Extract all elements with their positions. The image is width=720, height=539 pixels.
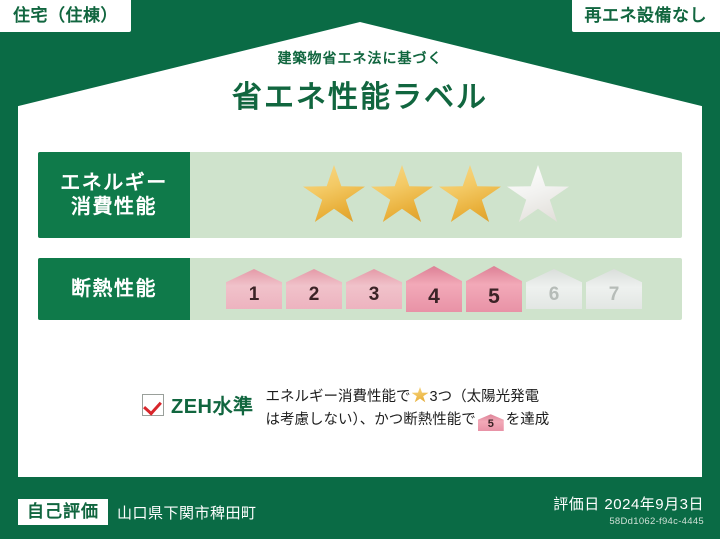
insulation-level-badge-2: 2 <box>286 269 342 309</box>
zeh-text-part2: は考慮しない）、かつ断熱性能で <box>266 412 476 428</box>
zeh-text-part1: エネルギー消費性能で <box>266 389 411 405</box>
insulation-performance-label: 断熱性能 <box>38 258 190 320</box>
zeh-note: ZEH水準 エネルギー消費性能で3つ（太陽光発電 は考慮しない）、かつ断熱性能で… <box>38 382 682 432</box>
zeh-description: エネルギー消費性能で3つ（太陽光発電 は考慮しない）、かつ断熱性能で5を達成 <box>266 382 550 432</box>
inline-insulation-badge-icon: 5 <box>478 414 504 431</box>
insulation-level-badge-6: 6 <box>526 269 582 309</box>
insulation-level-scale: 1234567 <box>190 258 682 320</box>
energy-consumption-row: エネルギー 消費性能 <box>38 152 682 238</box>
footer-right: 評価日 2024年9月3日 58Dd1062-f94c-4445 <box>553 493 704 527</box>
property-address: 山口県下関市稗田町 <box>117 502 257 523</box>
evaluation-type-badge: 自己評価 <box>18 499 108 525</box>
zeh-title: ZEH水準 <box>171 390 254 419</box>
document-id: 58Dd1062-f94c-4445 <box>553 516 704 527</box>
label-subtitle: 建築物省エネ法に基づく <box>0 48 720 68</box>
page-title: 建築物省エネ法に基づく 省エネ性能ラベル <box>0 48 720 116</box>
insulation-level-badge-3: 3 <box>346 269 402 309</box>
insulation-level-badge-1: 1 <box>226 269 282 309</box>
energy-consumption-label: エネルギー 消費性能 <box>38 152 190 238</box>
star-filled-icon <box>439 165 501 225</box>
energy-label-line1: エネルギー <box>60 171 168 195</box>
star-empty-icon <box>507 165 569 225</box>
insulation-level-badge-4: 4 <box>406 266 462 312</box>
zeh-text-part3: を達成 <box>506 412 550 428</box>
zeh-star-count-text: 3つ（太陽光発電 <box>430 389 540 405</box>
star-filled-icon <box>303 165 365 225</box>
insulation-level-badge-7: 7 <box>586 269 642 309</box>
insulation-label-text: 断熱性能 <box>71 277 157 301</box>
inline-star-icon <box>412 387 429 403</box>
star-filled-icon <box>371 165 433 225</box>
star-rating <box>190 152 682 238</box>
ratings-section: エネルギー 消費性能 断熱性能 1234567 <box>38 152 682 320</box>
insulation-level-badge-5: 5 <box>466 266 522 312</box>
energy-label-line2: 消費性能 <box>71 195 157 219</box>
insulation-performance-row: 断熱性能 1234567 <box>38 258 682 320</box>
label-main-title: 省エネ性能ラベル <box>0 72 720 116</box>
renewable-energy-badge: 再エネ設備なし <box>572 0 720 32</box>
footer-left: 自己評価 山口県下関市稗田町 <box>18 499 257 525</box>
zeh-checkbox-checked-icon <box>142 394 164 416</box>
zeh-check-group: ZEH水準 <box>38 382 254 419</box>
evaluation-date: 評価日 2024年9月3日 <box>553 493 704 514</box>
building-type-badge: 住宅（住棟） <box>0 0 131 32</box>
